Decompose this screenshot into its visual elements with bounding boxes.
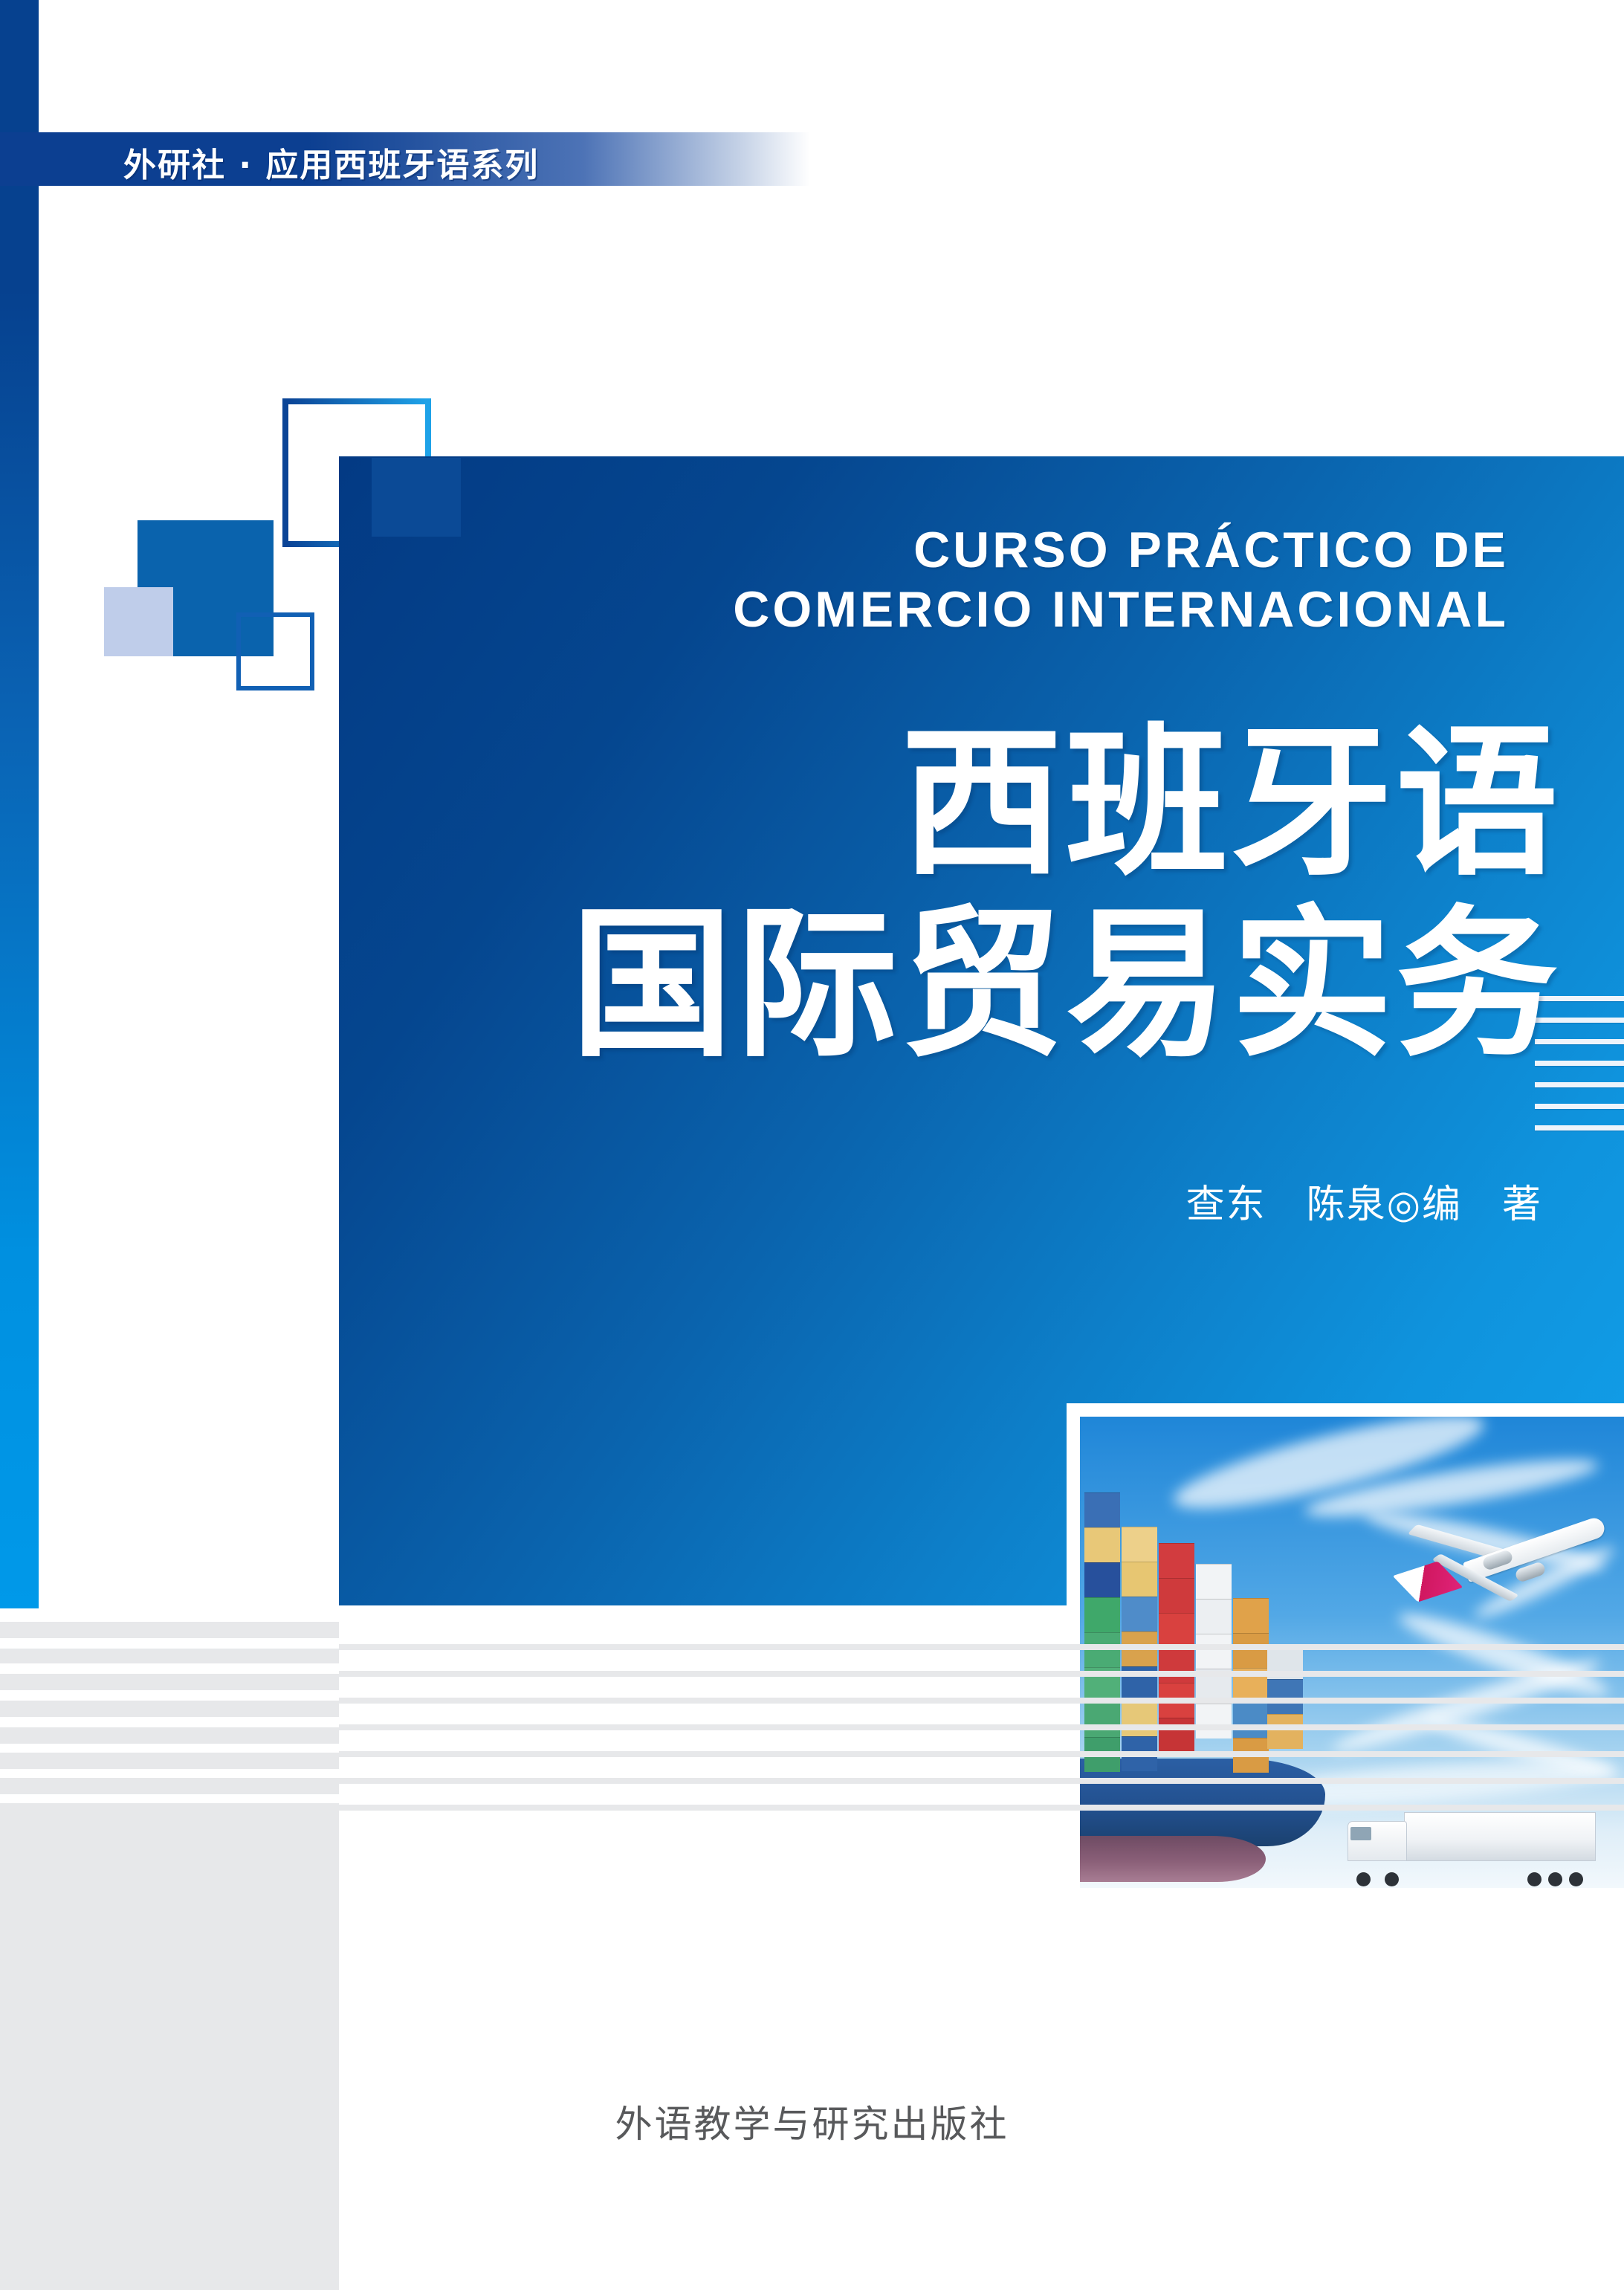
main-title: 西班牙语 国际贸易实务 [357,714,1561,1076]
spanish-title-line-2: COMERCIO INTERNACIONAL [416,580,1509,639]
main-title-line-2: 国际贸易实务 [357,895,1561,1076]
bottom-stripes-left [0,1605,339,2290]
bottom-stripes-right [339,1605,1624,2290]
decorative-square-outline-small [236,612,314,690]
book-cover: 外研社 · 应用西班牙语系列 CURSO PRÁCTICO DE COMERCI… [0,0,1624,2290]
decorative-square-pale-small [104,587,173,656]
main-title-line-1: 西班牙语 [357,714,1561,895]
spanish-title-line-1: CURSO PRÁCTICO DE [416,520,1509,580]
bottom-stripe-zone [0,1605,1624,2290]
spanish-title: CURSO PRÁCTICO DE COMERCIO INTERNACIONAL [416,520,1509,639]
left-accent-stripe [0,0,39,1608]
publisher-name: 外语教学与研究出版社 [0,2095,1624,2148]
author-byline: 查东 陈泉◎编 著 [669,1173,1542,1229]
series-banner-label: 外研社 · 应用西班牙语系列 [123,138,539,186]
